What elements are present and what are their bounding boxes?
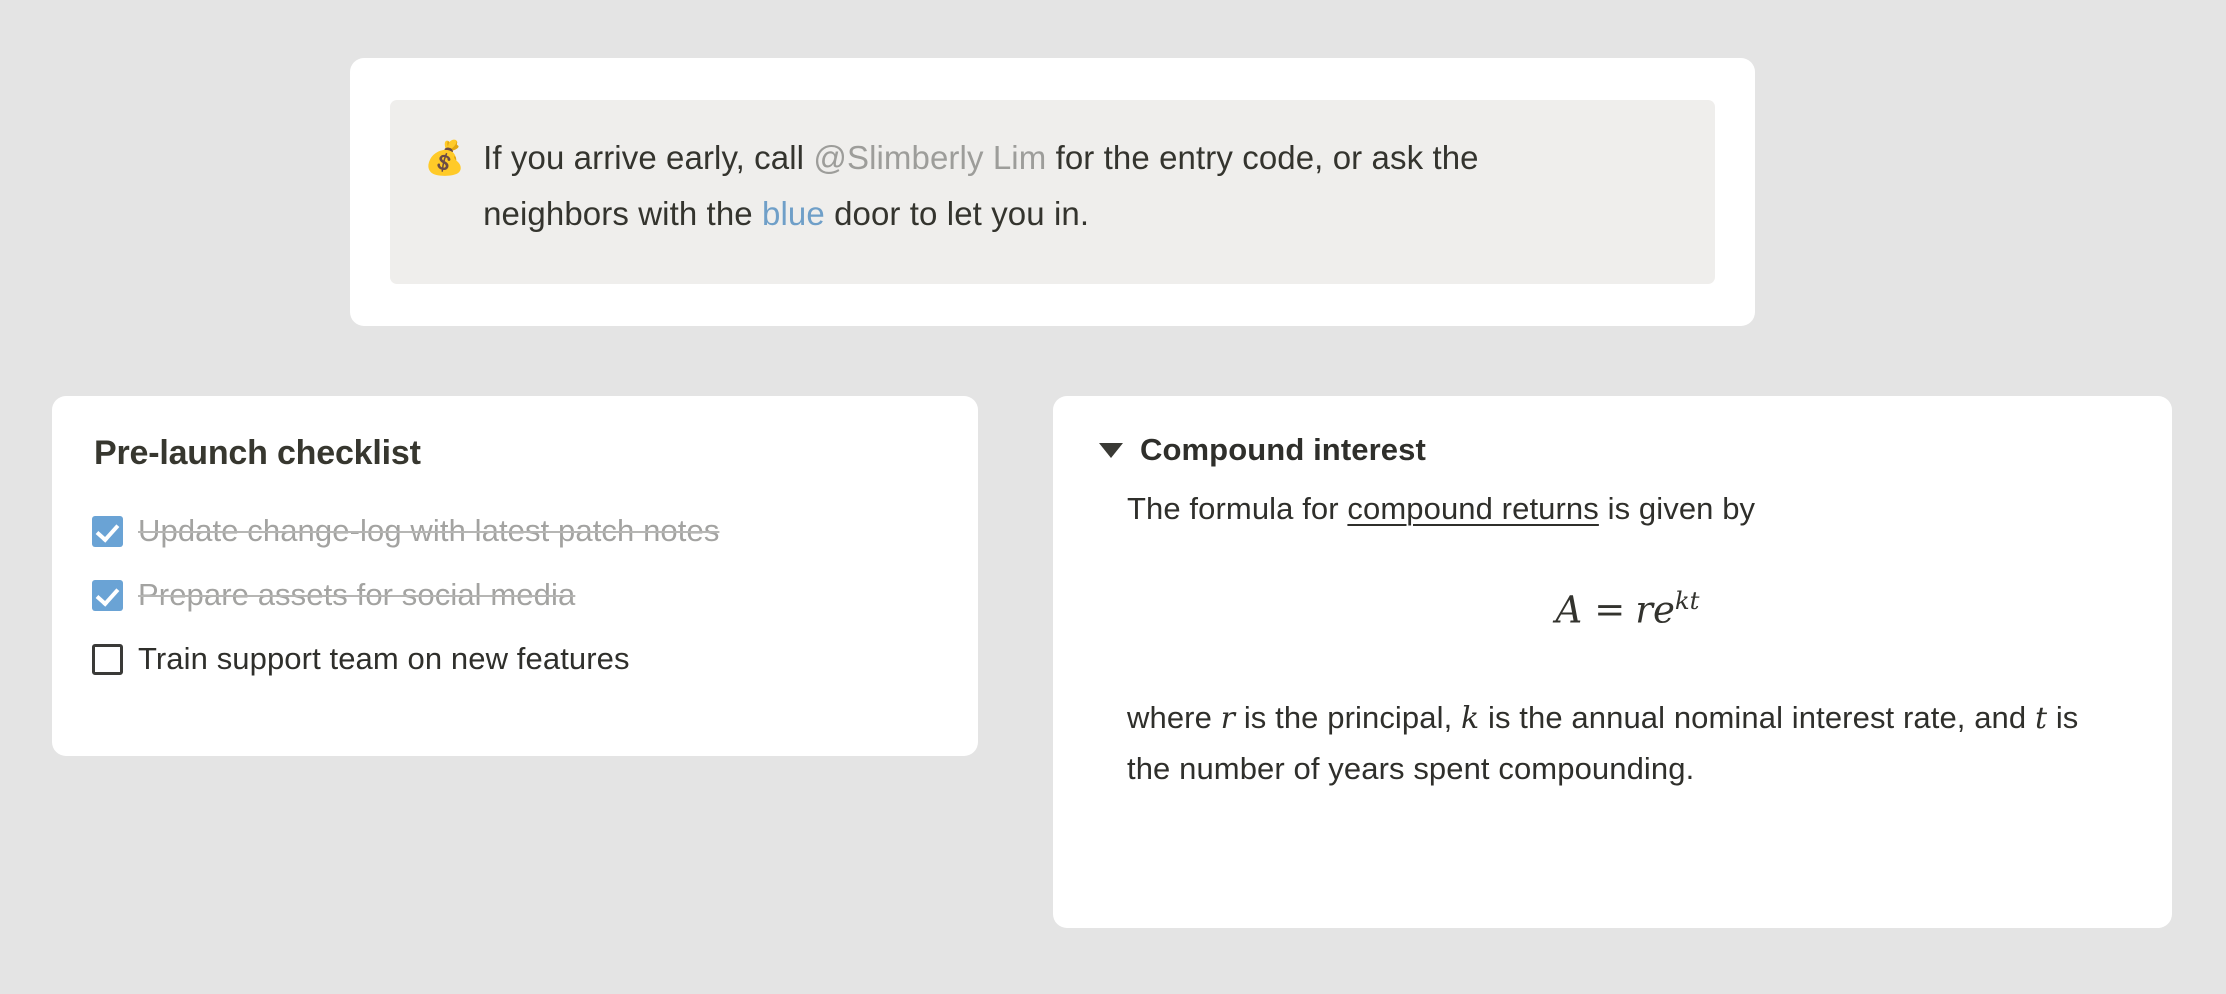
explanation-part-2: is the principal,: [1235, 700, 1461, 735]
variable-t: t: [2035, 701, 2047, 736]
formula-explanation-text: where r is the principal, k is the annua…: [1127, 693, 2128, 794]
disclosure-header[interactable]: Compound interest: [1099, 432, 2128, 468]
formula-body: The formula for compound returns is give…: [1127, 484, 2128, 794]
callout-block: 💰 If you arrive early, call @Slimberly L…: [390, 100, 1715, 284]
checkbox-checked-icon[interactable]: [92, 516, 123, 547]
equation-display: A=rekt: [1127, 586, 2128, 631]
variable-k: k: [1461, 701, 1479, 736]
formula-intro-text: The formula for compound returns is give…: [1127, 484, 2128, 534]
section-title: Compound interest: [1140, 432, 1426, 468]
compound-returns-link[interactable]: compound returns: [1347, 491, 1598, 526]
checklist-item-label: Prepare assets for social media: [138, 577, 575, 613]
checklist-item[interactable]: Prepare assets for social media: [92, 563, 938, 627]
checklist-item[interactable]: Train support team on new features: [92, 627, 938, 691]
triangle-down-icon[interactable]: [1099, 443, 1123, 458]
checklist-item-label: Train support team on new features: [138, 641, 630, 677]
variable-r: r: [1221, 701, 1235, 736]
equation-lhs: A: [1556, 588, 1585, 631]
equation-operator: =: [1584, 588, 1635, 631]
equation-rhs-exponent: kt: [1675, 586, 1700, 615]
page-root: 💰 If you arrive early, call @Slimberly L…: [0, 0, 2226, 994]
callout-text-tail: door to let you in.: [825, 195, 1089, 232]
equation-rhs-base: re: [1635, 588, 1675, 631]
checklist-title: Pre-launch checklist: [94, 434, 938, 473]
explanation-part-1: where: [1127, 700, 1221, 735]
explanation-part-3: is the annual nominal interest rate, and: [1479, 700, 2035, 735]
checkbox-unchecked-icon[interactable]: [92, 644, 123, 675]
mention-slimberly-lim[interactable]: @Slimberly Lim: [813, 139, 1046, 176]
checklist-item[interactable]: Update change-log with latest patch note…: [92, 499, 938, 563]
compound-interest-card: Compound interest The formula for compou…: [1053, 396, 2172, 928]
intro-tail: is given by: [1599, 491, 1755, 526]
highlight-word-blue: blue: [762, 195, 825, 232]
callout-text: If you arrive early, call @Slimberly Lim…: [483, 130, 1613, 242]
checklist-card: Pre-launch checklist Update change-log w…: [52, 396, 978, 756]
checklist-item-label: Update change-log with latest patch note…: [138, 513, 719, 549]
callout-card: 💰 If you arrive early, call @Slimberly L…: [350, 58, 1755, 326]
money-bag-emoji: 💰: [424, 130, 465, 186]
checkbox-checked-icon[interactable]: [92, 580, 123, 611]
intro-lead: The formula for: [1127, 491, 1347, 526]
callout-text-lead: If you arrive early, call: [483, 139, 813, 176]
